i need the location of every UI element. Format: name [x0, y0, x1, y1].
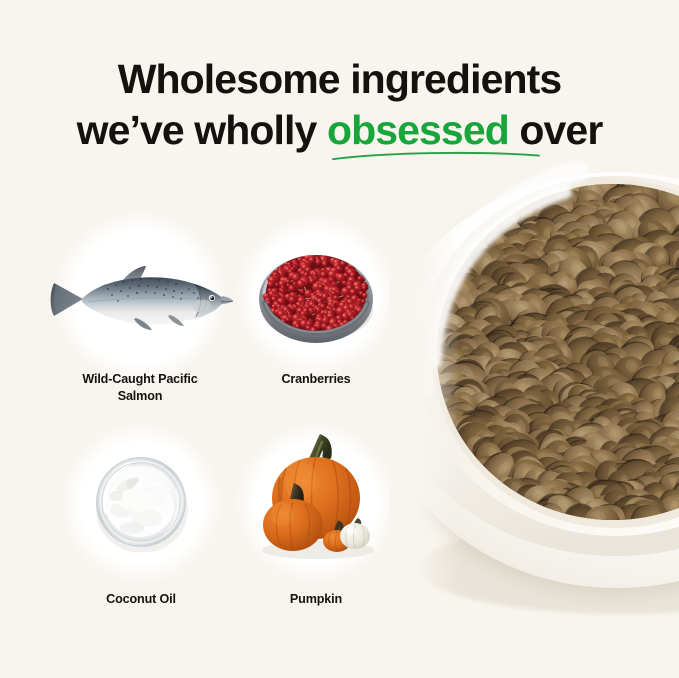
cranberries-icon — [256, 247, 376, 343]
coconut-oil-jar-icon — [92, 452, 190, 552]
headline-line-2-after: over — [509, 107, 603, 153]
ingredient-label-salmon: Wild-Caught Pacific Salmon — [40, 371, 240, 405]
kibble-bowl-photo — [417, 156, 679, 626]
ingredient-label-pumpkin: Pumpkin — [246, 591, 386, 608]
headline-line-2: we’ve wholly obsessed over — [0, 105, 679, 156]
ingredient-label-cranberries: Cranberries — [246, 371, 386, 388]
page-title: Wholesome ingredients we’ve wholly obses… — [0, 54, 679, 156]
ingredient-label-coconut-oil: Coconut Oil — [61, 591, 221, 608]
pumpkin-icon — [256, 434, 378, 560]
salmon-icon — [42, 258, 238, 338]
product-feature-panel: Wholesome ingredients we’ve wholly obses… — [0, 0, 679, 678]
headline-line-1: Wholesome ingredients — [0, 54, 679, 105]
headline-accent-word: obsessed — [327, 107, 509, 153]
headline-line-2-before: we’ve wholly — [77, 107, 327, 153]
